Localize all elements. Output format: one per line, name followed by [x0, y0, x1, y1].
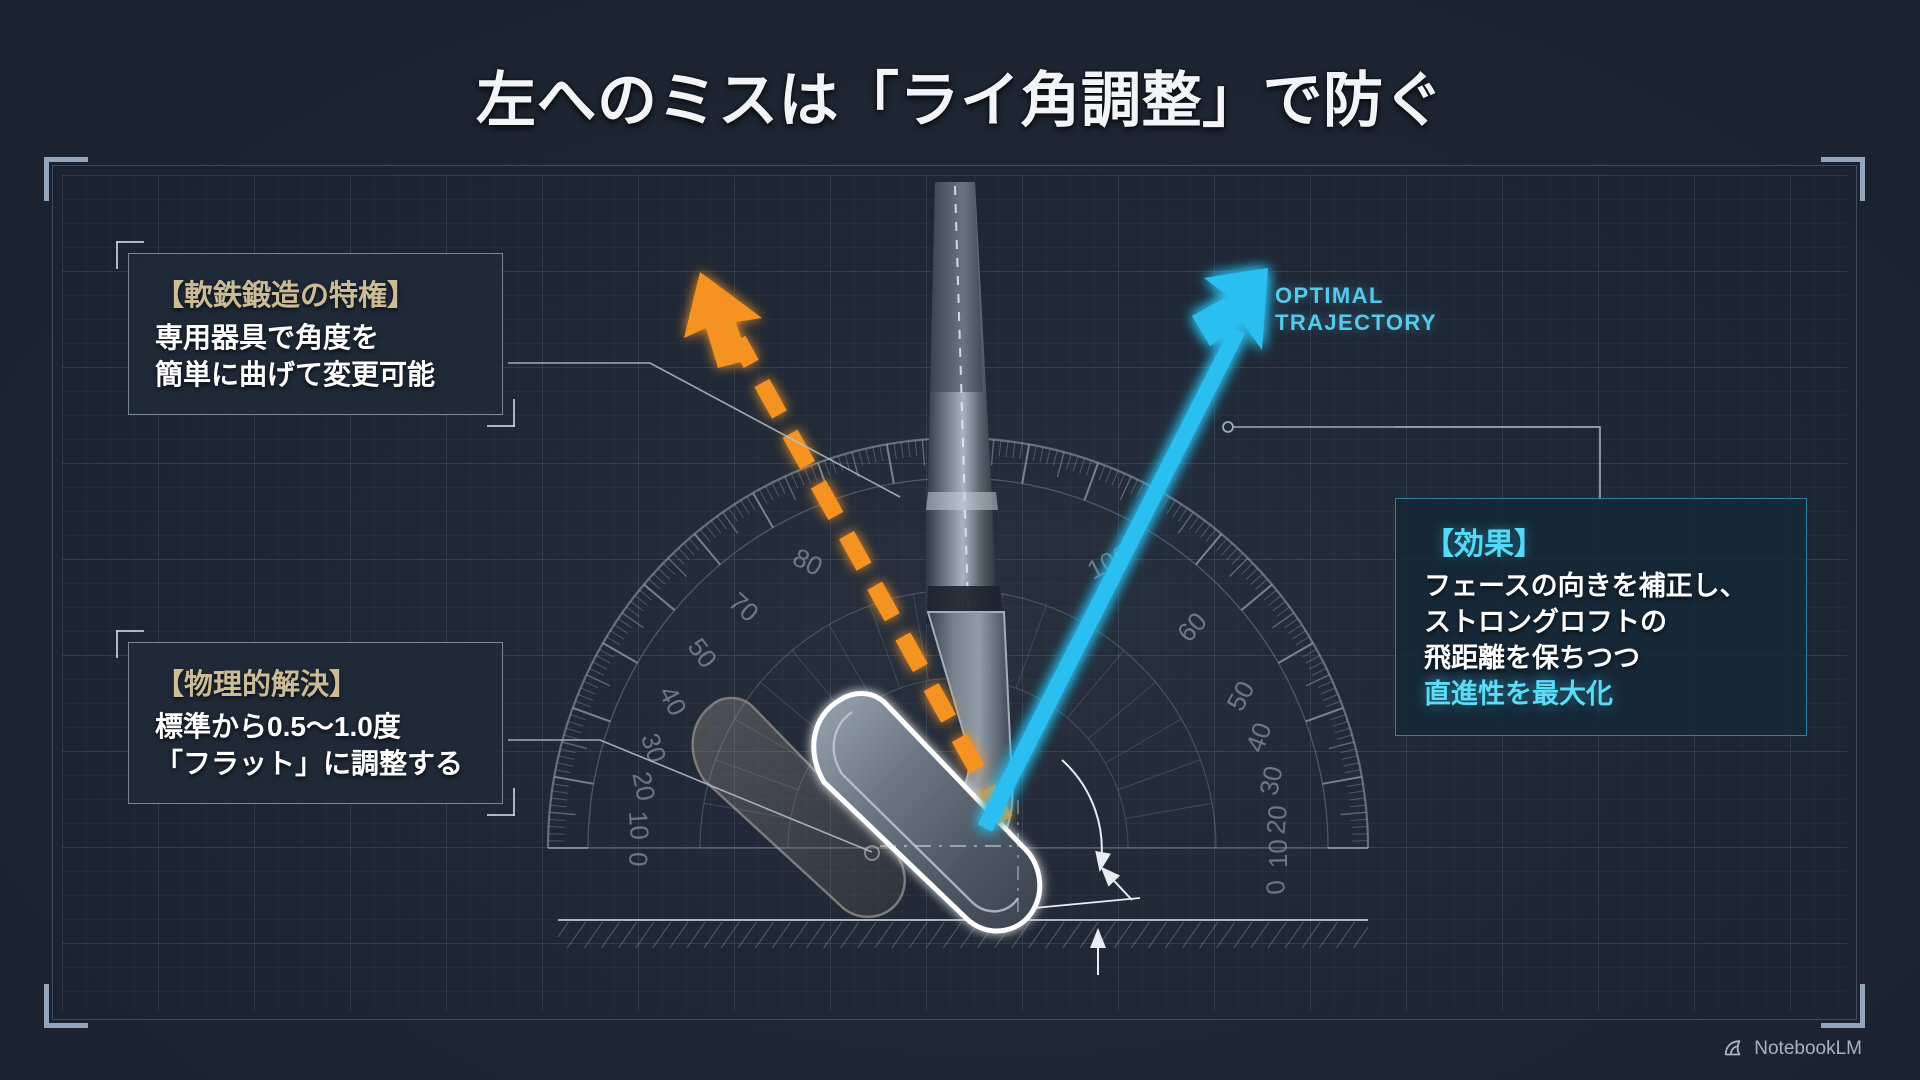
callout-physical-heading: 【物理的解決】	[155, 661, 480, 703]
protractor-tick-label: 60	[1171, 606, 1213, 648]
callout-physical-line2: 「フラット」に調整する	[155, 746, 480, 783]
protractor-tick-label: 80	[788, 542, 828, 582]
protractor-tick-label: 10	[623, 810, 655, 841]
protractor-tick-label: 0	[623, 852, 653, 868]
callout-forging-heading: 【軟鉄鍛造の特権】	[155, 272, 480, 314]
trajectory-label-line1: OPTIMAL	[1275, 283, 1437, 310]
callout-corner-top-left	[116, 241, 144, 269]
protractor-tick-label: 0	[1260, 878, 1292, 896]
protractor-tick-label: 10	[1263, 839, 1294, 868]
callout-corner-bottom-right	[487, 399, 515, 427]
callout-effect[interactable]: 【効果】 フェースの向きを補正し、 ストロングロフトの 飛距離を保ちつつ 直進性…	[1395, 498, 1807, 736]
callout-effect-heading: 【効果】	[1424, 519, 1784, 563]
cyan-trajectory-arrow[interactable]	[985, 268, 1268, 828]
callout-effect-line2: ストロングロフトの	[1424, 605, 1784, 641]
callout-forging-line2: 簡単に曲げて変更可能	[155, 357, 480, 394]
callout-forging[interactable]: 【軟鉄鍛造の特権】 専用器具で角度を 簡単に曲げて変更可能	[128, 253, 503, 415]
protractor-tick-label: 40	[1240, 718, 1278, 755]
protractor-tick-label: 70	[723, 586, 765, 628]
leader-effect	[1395, 427, 1600, 500]
trajectory-label-line2: TRAJECTORY	[1275, 310, 1437, 337]
angle-arc-upper	[1062, 760, 1102, 870]
protractor-tick-label: 40	[653, 681, 693, 720]
callout-physical-line1: 標準から0.5〜1.0度	[155, 709, 480, 746]
callout-forging-line1: 専用器具で角度を	[155, 320, 480, 357]
protractor-tick-label: 30	[1253, 763, 1288, 798]
ground-line	[558, 920, 1368, 948]
protractor-tick-label: 30	[635, 729, 672, 766]
notebooklm-watermark: NotebookLM	[1723, 1038, 1862, 1060]
protractor-tick-label: 20	[1260, 804, 1292, 835]
callout-effect-line3: 飛距離を保ちつつ	[1424, 641, 1784, 677]
optimal-trajectory-label: OPTIMAL TRAJECTORY	[1275, 283, 1437, 337]
callout-physical[interactable]: 【物理的解決】 標準から0.5〜1.0度 「フラット」に調整する	[128, 642, 503, 804]
protractor-tick-label: 20	[627, 769, 662, 803]
protractor-tick-label: 50	[682, 632, 723, 673]
protractor-tick-label: 50	[1220, 676, 1260, 716]
club-shaft	[925, 182, 1004, 624]
callout-effect-line1: フェースの向きを補正し、	[1424, 569, 1784, 605]
leader-forging	[508, 363, 900, 497]
infographic-canvas: 左へのミスは「ライ角調整」で防ぐ	[0, 0, 1920, 1080]
callout-corner-top-left	[116, 630, 144, 658]
callout-corner-bottom-right	[487, 788, 515, 816]
watermark-brand: NotebookLM	[1754, 1038, 1862, 1060]
notebooklm-logo-icon	[1723, 1038, 1745, 1060]
callout-effect-line4: 直進性を最大化	[1424, 677, 1784, 713]
